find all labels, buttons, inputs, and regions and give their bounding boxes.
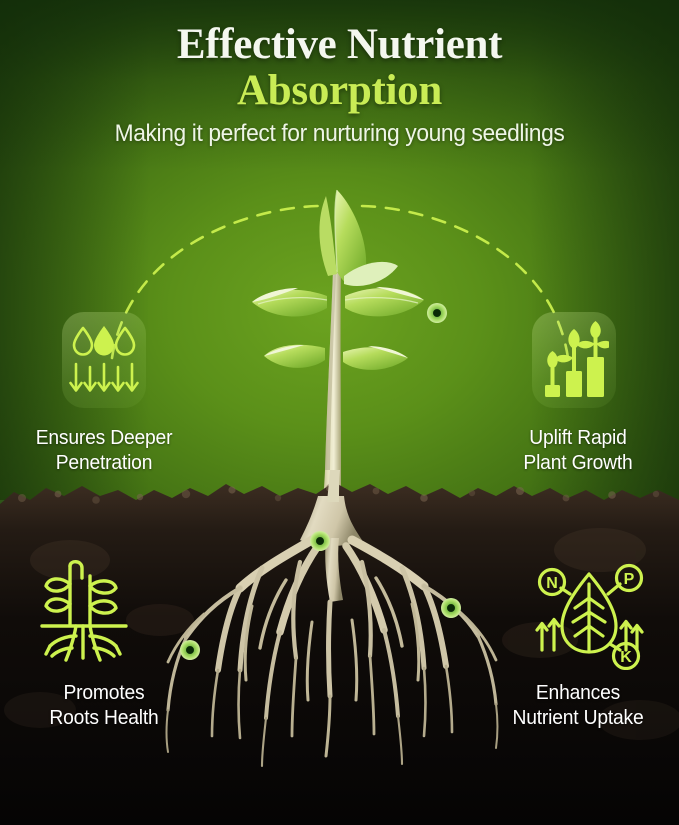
- nutrient-marker-dot: [310, 531, 330, 551]
- page-title-line2: Absorption: [0, 66, 679, 115]
- nutrient-marker-dot: [180, 640, 200, 660]
- page-subtitle: Making it perfect for nurturing young se…: [17, 120, 662, 148]
- plant-with-roots-outline-icon: [32, 558, 142, 670]
- npk-label-n: N: [546, 575, 558, 592]
- feature-icon-panel-penetration: [62, 312, 146, 408]
- feature-label-roots: Promotes Roots Health: [10, 680, 198, 730]
- npk-leaf-uptake-icon: N P K: [530, 558, 648, 670]
- feature-label-penetration: Ensures Deeper Penetration: [10, 425, 198, 475]
- nutrient-marker-dot: [427, 303, 447, 323]
- feature-label-growth: Uplift Rapid Plant Growth: [484, 425, 672, 475]
- nutrient-marker-dot: [441, 598, 461, 618]
- page-title-line1: Effective Nutrient: [0, 20, 679, 69]
- infographic-canvas: Effective Nutrient Absorption Making it …: [0, 0, 679, 825]
- npk-label-p: P: [624, 571, 635, 588]
- npk-label-k: K: [620, 649, 632, 666]
- feature-icon-panel-growth: [532, 312, 616, 408]
- growth-bar-chart-sprouts-icon: [539, 321, 609, 399]
- feature-label-uptake: Enhances Nutrient Uptake: [484, 680, 672, 730]
- water-droplets-down-arrows-icon: [68, 320, 140, 400]
